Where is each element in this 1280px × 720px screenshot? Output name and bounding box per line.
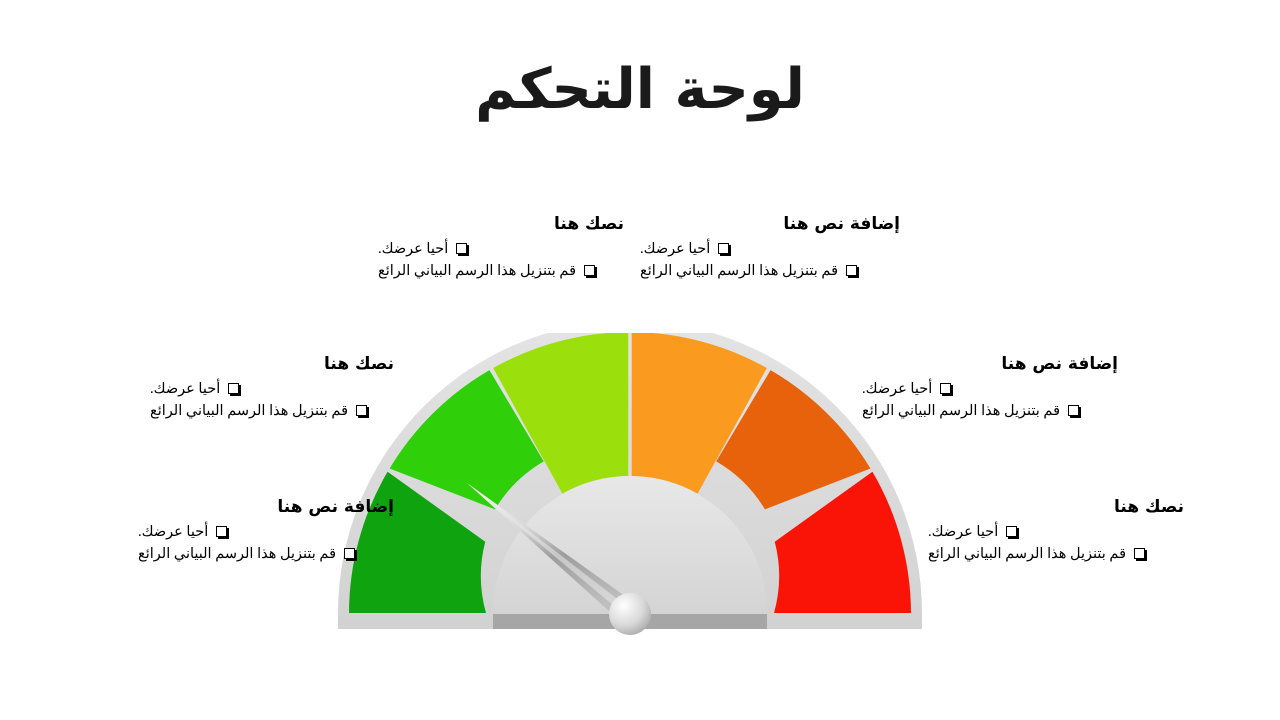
checkbox-square-icon <box>356 405 367 416</box>
callout-bullet-text: أحيا عرضك. <box>378 239 448 261</box>
callout-bot-left: إضافة نص هنا أحيا عرضك. قم بتنزيل هذا ال… <box>138 496 394 565</box>
checkbox-square-icon <box>228 383 239 394</box>
callout-heading: نصك هنا <box>928 496 1184 519</box>
callout-bullet-list: أحيا عرضك. قم بتنزيل هذا الرسم البياني ا… <box>150 379 394 423</box>
dashboard-slide: لوحة التحكم <box>0 0 1280 720</box>
callout-bullet-item: أحيا عرضك. <box>928 522 1184 544</box>
checkbox-square-icon <box>1006 526 1017 537</box>
callout-bullet-text: قم بتنزيل هذا الرسم البياني الرائع <box>640 261 838 283</box>
callout-heading: نصك هنا <box>378 213 624 236</box>
checkbox-square-icon <box>344 548 355 559</box>
callout-bullet-text: قم بتنزيل هذا الرسم البياني الرائع <box>150 401 348 423</box>
callout-bullet-list: أحيا عرضك. قم بتنزيل هذا الرسم البياني ا… <box>862 379 1118 423</box>
callout-bullet-item: قم بتنزيل هذا الرسم البياني الرائع <box>640 261 900 283</box>
callout-bullet-list: أحيا عرضك. قم بتنزيل هذا الرسم البياني ا… <box>640 239 900 283</box>
callout-bullet-text: قم بتنزيل هذا الرسم البياني الرائع <box>862 401 1060 423</box>
callout-bullet-item: أحيا عرضك. <box>138 522 394 544</box>
page-title: لوحة التحكم <box>0 58 1280 122</box>
checkbox-square-icon <box>584 265 595 276</box>
callout-heading: إضافة نص هنا <box>138 496 394 519</box>
callout-bullet-item: قم بتنزيل هذا الرسم البياني الرائع <box>150 401 394 423</box>
checkbox-square-icon <box>718 243 729 254</box>
callout-heading: إضافة نص هنا <box>862 353 1118 376</box>
callout-bullet-text: أحيا عرضك. <box>928 522 998 544</box>
callout-bullet-item: قم بتنزيل هذا الرسم البياني الرائع <box>138 544 394 566</box>
callout-bot-right: نصك هنا أحيا عرضك. قم بتنزيل هذا الرسم ا… <box>928 496 1184 565</box>
gauge-svg <box>330 333 934 635</box>
callout-bullet-item: قم بتنزيل هذا الرسم البياني الرائع <box>862 401 1118 423</box>
callout-heading: نصك هنا <box>150 353 394 376</box>
callout-bullet-text: قم بتنزيل هذا الرسم البياني الرائع <box>378 261 576 283</box>
callout-mid-right: إضافة نص هنا أحيا عرضك. قم بتنزيل هذا ال… <box>862 353 1118 422</box>
callout-bullet-text: قم بتنزيل هذا الرسم البياني الرائع <box>138 544 336 566</box>
checkbox-square-icon <box>846 265 857 276</box>
callout-bullet-list: أحيا عرضك. قم بتنزيل هذا الرسم البياني ا… <box>138 522 394 566</box>
callout-bullet-text: أحيا عرضك. <box>138 522 208 544</box>
checkbox-square-icon <box>1134 548 1145 559</box>
gauge-chart <box>330 333 934 635</box>
gauge-hub <box>609 593 651 635</box>
callout-top-right: إضافة نص هنا أحيا عرضك. قم بتنزيل هذا ال… <box>640 213 900 282</box>
callout-mid-left: نصك هنا أحيا عرضك. قم بتنزيل هذا الرسم ا… <box>150 353 394 422</box>
callout-bullet-text: أحيا عرضك. <box>150 379 220 401</box>
callout-bullet-list: أحيا عرضك. قم بتنزيل هذا الرسم البياني ا… <box>378 239 624 283</box>
checkbox-square-icon <box>456 243 467 254</box>
callout-bullet-text: أحيا عرضك. <box>640 239 710 261</box>
callout-bullet-item: أحيا عرضك. <box>640 239 900 261</box>
callout-bullet-item: أحيا عرضك. <box>150 379 394 401</box>
callout-top-left: نصك هنا أحيا عرضك. قم بتنزيل هذا الرسم ا… <box>378 213 624 282</box>
checkbox-square-icon <box>1068 405 1079 416</box>
checkbox-square-icon <box>216 526 227 537</box>
callout-heading: إضافة نص هنا <box>640 213 900 236</box>
callout-bullet-item: أحيا عرضك. <box>862 379 1118 401</box>
callout-bullet-text: قم بتنزيل هذا الرسم البياني الرائع <box>928 544 1126 566</box>
callout-bullet-item: قم بتنزيل هذا الرسم البياني الرائع <box>378 261 624 283</box>
callout-bullet-item: أحيا عرضك. <box>378 239 624 261</box>
callout-bullet-item: قم بتنزيل هذا الرسم البياني الرائع <box>928 544 1184 566</box>
checkbox-square-icon <box>940 383 951 394</box>
callout-bullet-list: أحيا عرضك. قم بتنزيل هذا الرسم البياني ا… <box>928 522 1184 566</box>
callout-bullet-text: أحيا عرضك. <box>862 379 932 401</box>
